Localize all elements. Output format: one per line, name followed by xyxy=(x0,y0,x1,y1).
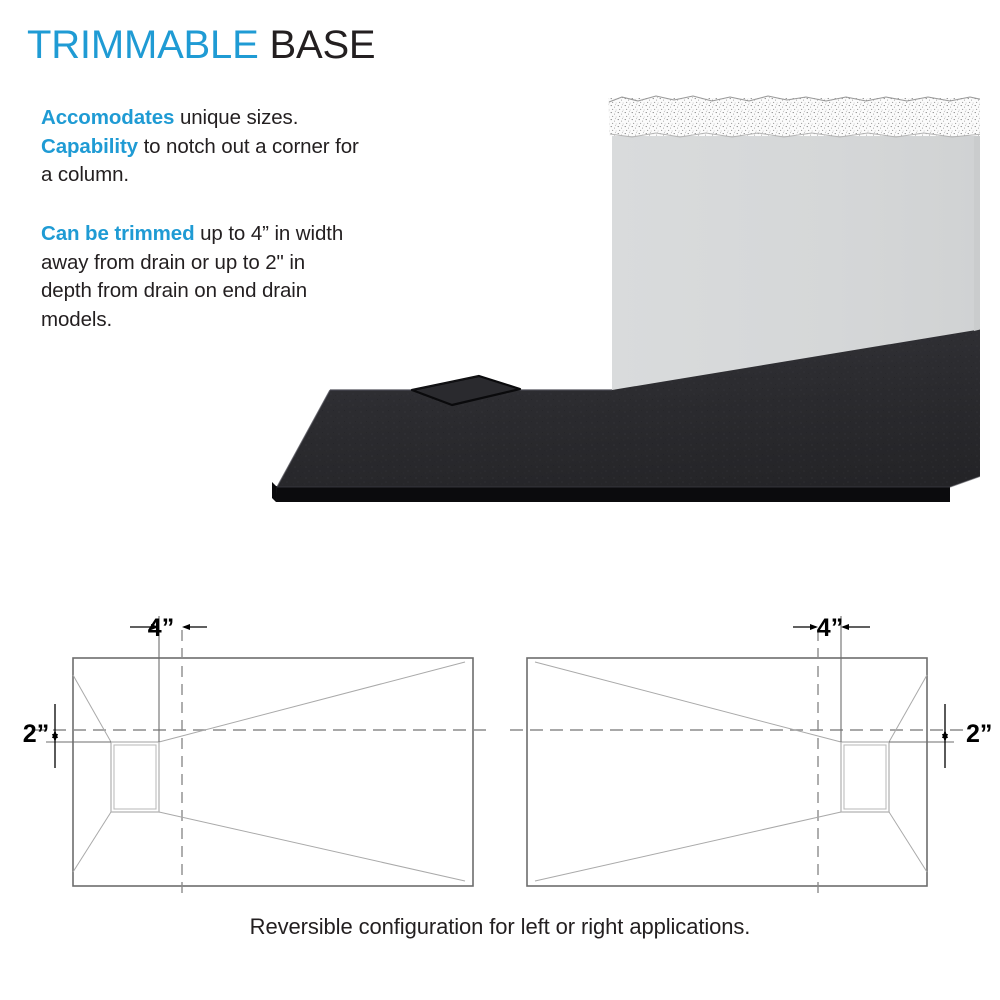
page-title-dark: BASE xyxy=(269,23,375,67)
base-front-bevel xyxy=(277,487,950,502)
right-diagram: 4” 2” xyxy=(510,614,992,896)
feature-lead-accomodates: Accomodates xyxy=(41,106,174,129)
diagram-caption: Reversible configuration for left or rig… xyxy=(0,912,1000,942)
column-right-face xyxy=(974,136,980,331)
product-render xyxy=(260,90,980,515)
right-dim-2in-label: 2” xyxy=(966,720,992,748)
page-title: TRIMMABLE BASE xyxy=(27,21,375,69)
column-top-ragged-edge xyxy=(609,96,980,136)
technical-drawings: 4” 2” xyxy=(0,600,1000,920)
feature-lead-can-be-trimmed: Can be trimmed xyxy=(41,222,195,245)
left-dim-2in-arrows xyxy=(52,704,58,768)
left-dim-2in-label: 2” xyxy=(23,720,49,748)
page-title-accent: TRIMMABLE xyxy=(27,23,259,67)
right-dim-4in-label: 4” xyxy=(817,614,843,642)
base-left-edge xyxy=(272,482,276,502)
right-drain-inner xyxy=(844,745,886,809)
feature-lead-capability: Capability xyxy=(41,135,138,158)
left-dim-4in-label: 4” xyxy=(148,614,174,642)
page-title-space xyxy=(259,23,270,67)
right-dim-2in-arrows xyxy=(942,704,948,768)
left-diagram: 4” 2” xyxy=(23,614,490,896)
left-drain-inner xyxy=(114,745,156,809)
